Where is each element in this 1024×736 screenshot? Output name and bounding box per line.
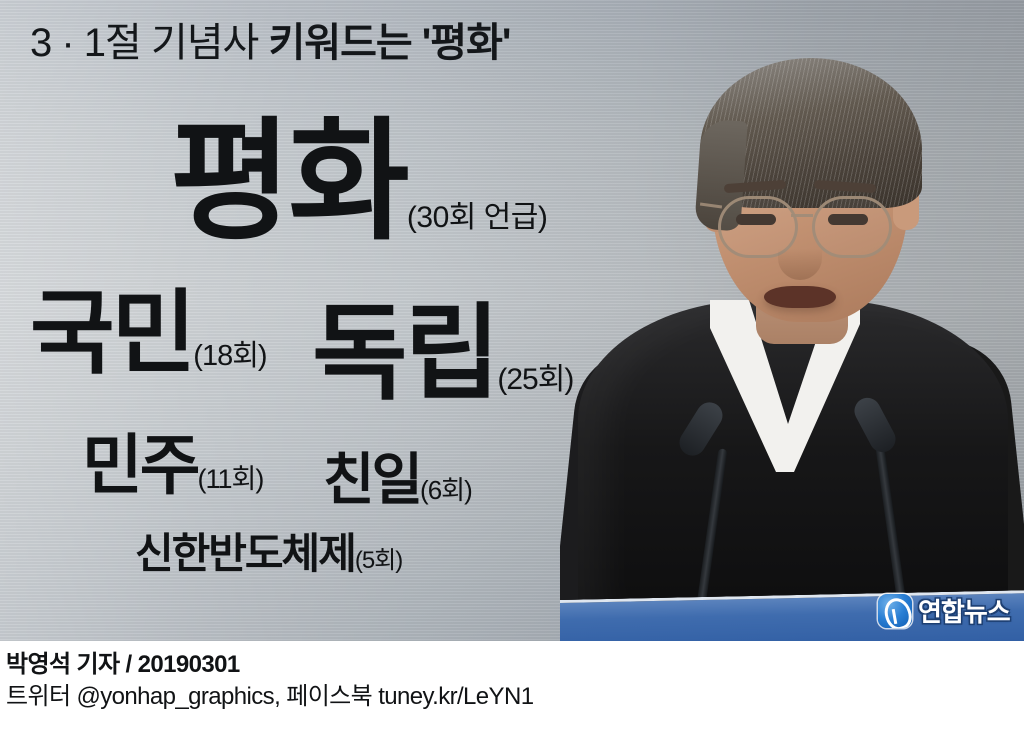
word-independence: 독립(25회)	[312, 302, 573, 406]
word-new-korean-peninsula-regime-term: 신한반도체제	[135, 530, 355, 577]
word-peace-count: (30회 언급)	[407, 201, 548, 234]
footer-credits: 박영석 기자 / 20190301 트위터 @yonhap_graphics, …	[0, 641, 1024, 736]
word-projapanese-term: 친일	[323, 448, 420, 511]
eyeglasses-bridge	[791, 214, 813, 217]
eyeglasses-lens-right	[812, 196, 892, 258]
nose	[778, 228, 822, 280]
word-projapanese: 친일(6회)	[323, 452, 472, 508]
word-projapanese-count: (6회)	[420, 475, 472, 505]
word-democracy: 민주(11회)	[82, 432, 263, 498]
yonhap-logo-text: 연합뉴스	[918, 592, 1010, 629]
yonhap-news-logo: 연합뉴스	[878, 592, 1010, 629]
mouth	[764, 286, 836, 308]
footer-social-line: 트위터 @yonhap_graphics, 페이스북 tuney.kr/LeYN…	[6, 681, 1024, 713]
yonhap-swirl-icon	[878, 594, 912, 628]
word-people-term: 국민	[30, 283, 193, 385]
word-democracy-term: 민주	[82, 428, 197, 502]
graphic-panel: 3 · 1절 기념사 키워드는 '평화' 평화(30회 언급) 국민(18회) …	[0, 0, 1024, 641]
word-new-korean-peninsula-regime: 신한반도체제(5회)	[135, 533, 402, 575]
word-peace: 평화(30회 언급)	[170, 116, 547, 248]
word-people-count: (18회)	[193, 340, 266, 372]
word-cloud: 평화(30회 언급) 국민(18회) 독립(25회) 민주(11회) 친일(6회…	[0, 0, 640, 641]
word-peace-term: 평화	[170, 108, 407, 255]
word-people: 국민(18회)	[30, 288, 267, 380]
footer-reporter-line: 박영석 기자 / 20190301	[6, 649, 1024, 681]
word-new-korean-peninsula-regime-count: (5회)	[355, 547, 402, 574]
infographic-root: 3 · 1절 기념사 키워드는 '평화' 평화(30회 언급) 국민(18회) …	[0, 0, 1024, 736]
word-independence-term: 독립	[312, 296, 497, 412]
speaker-photo	[560, 0, 1024, 641]
word-democracy-count: (11회)	[197, 464, 263, 494]
